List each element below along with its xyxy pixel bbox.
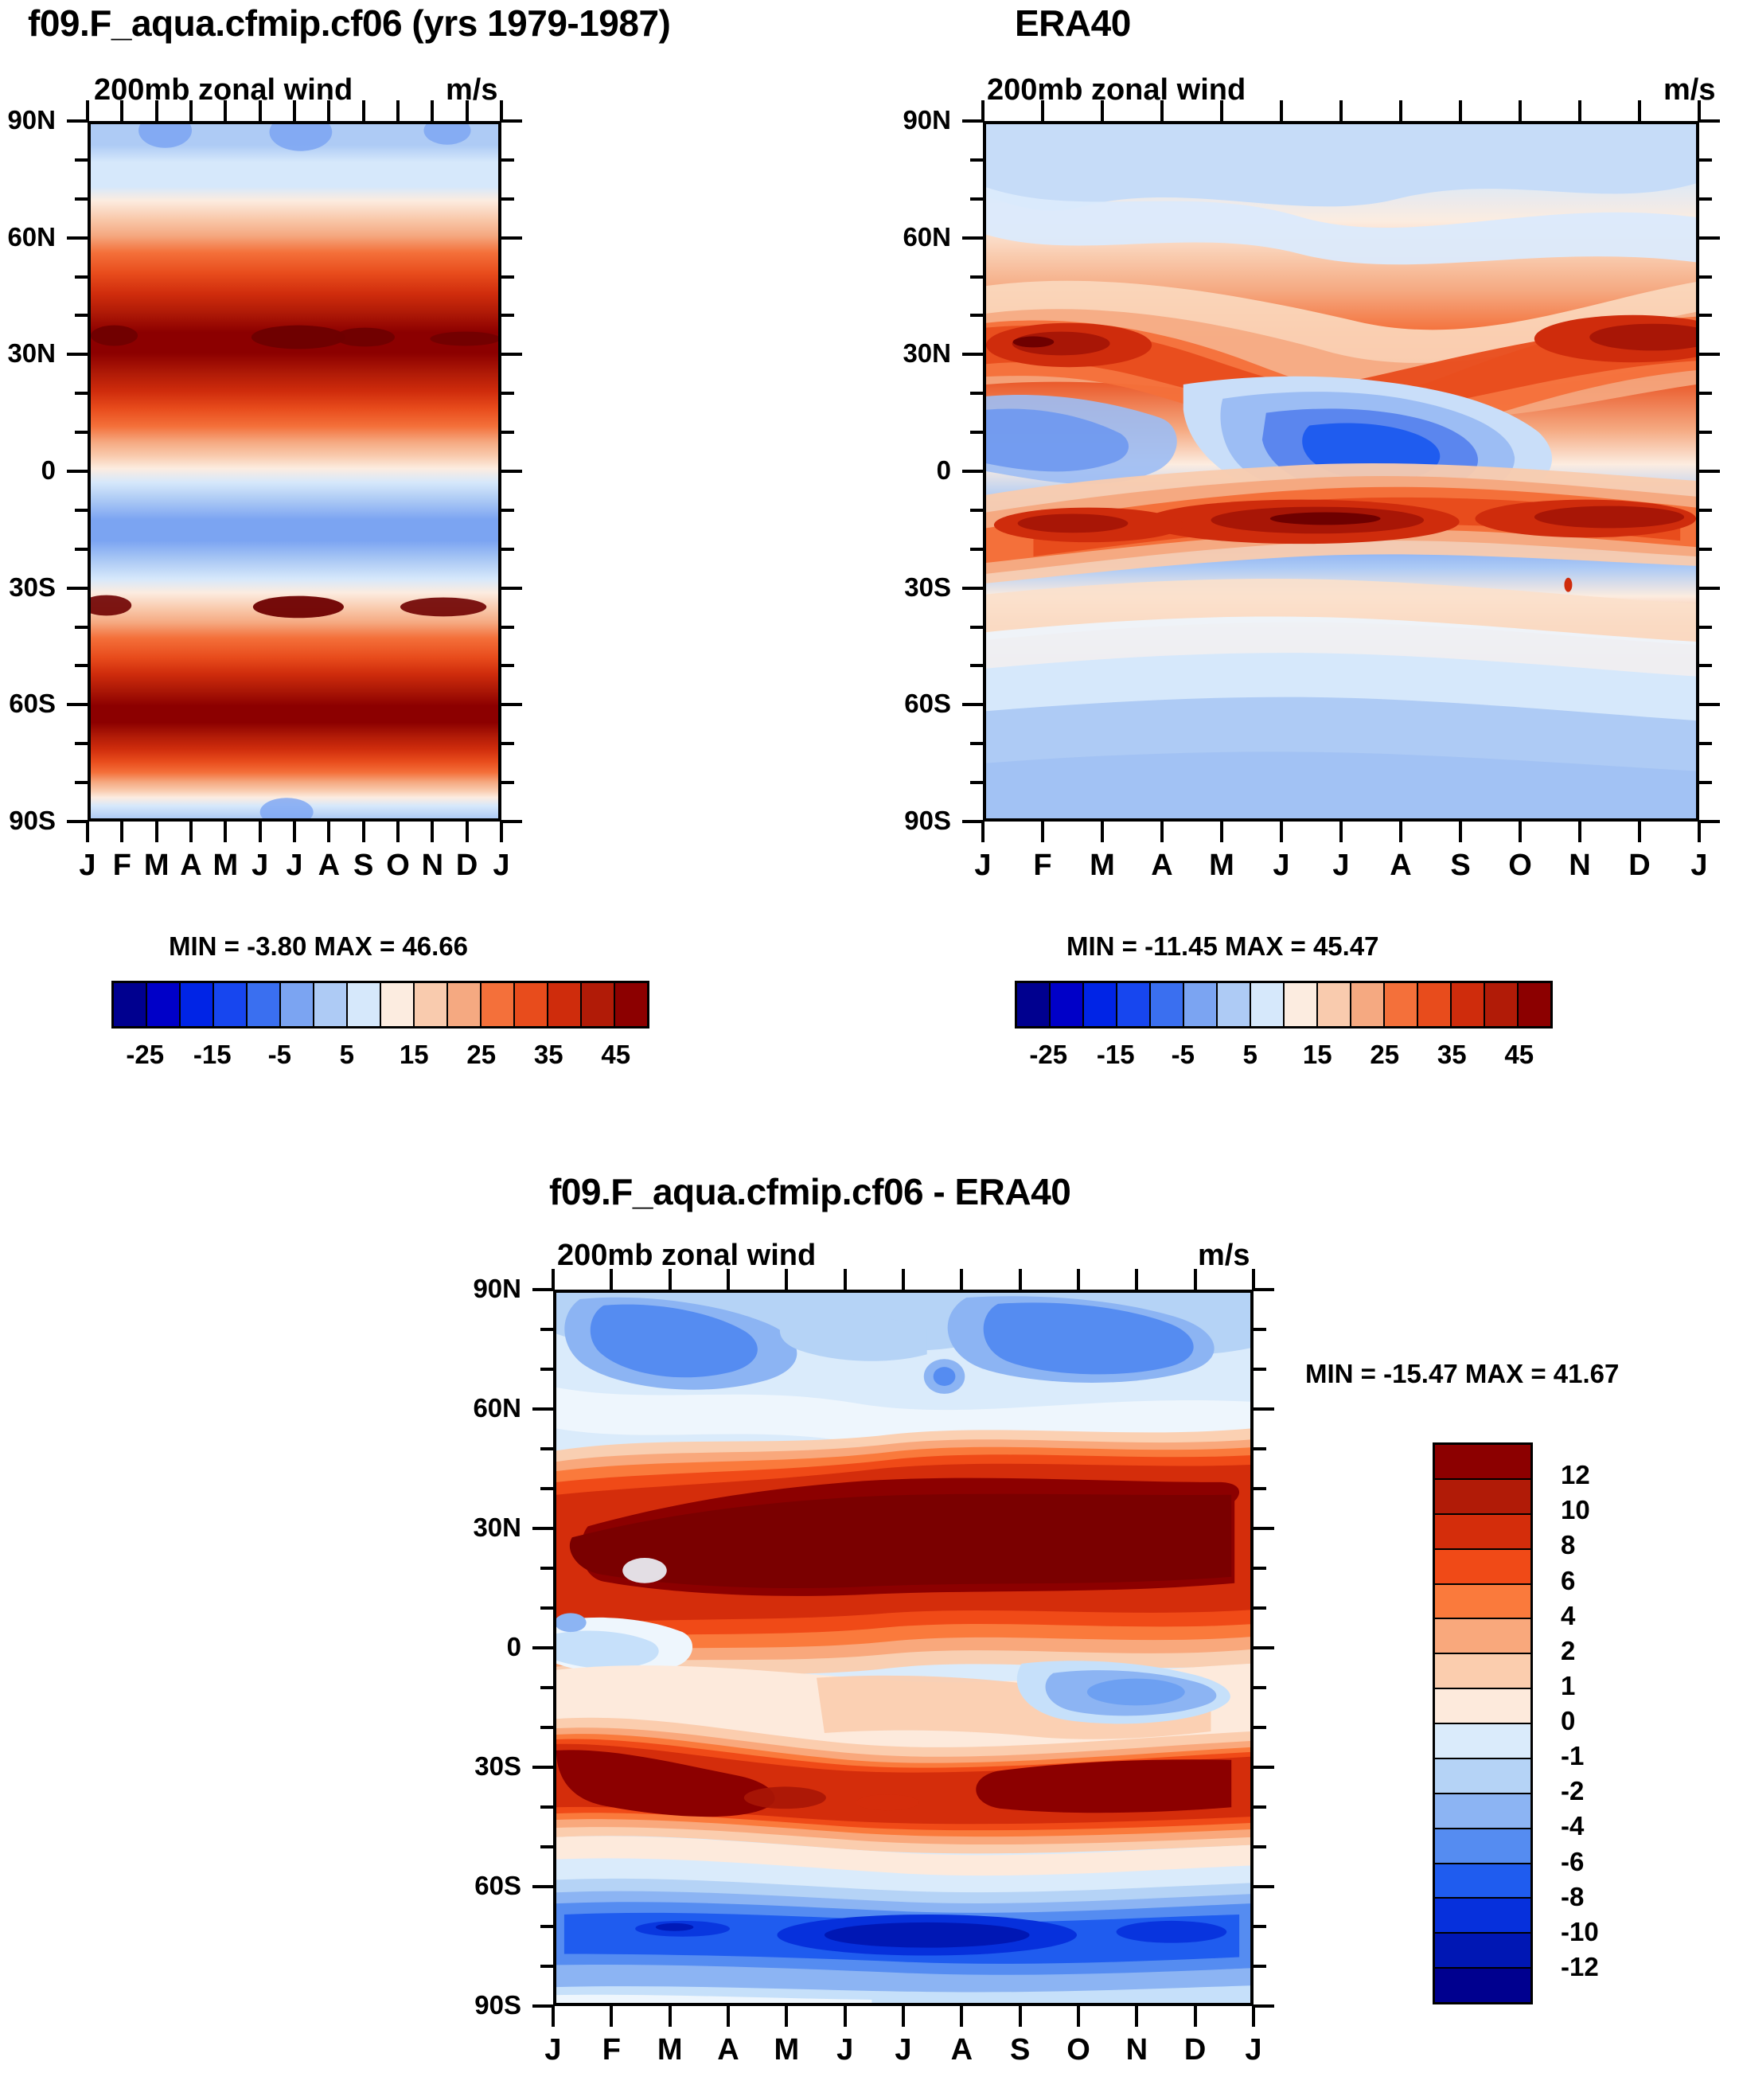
colorbar-swatch (1435, 1934, 1530, 1969)
y-tick-major (1254, 1766, 1274, 1769)
colorbar-tick-label: 12 (1561, 1460, 1590, 1490)
colorbar-swatch (1351, 983, 1385, 1026)
y-tick-minor (75, 392, 88, 395)
colorbar-tick-label: 6 (1561, 1566, 1575, 1596)
colorbar-swatch (1117, 983, 1151, 1026)
y-tick-minor (75, 742, 88, 745)
y-axis-label: 30N (473, 1513, 521, 1543)
colorbar-tick-label: -5 (268, 1040, 291, 1070)
y-axis-label: 0 (41, 455, 56, 486)
y-tick-minor (970, 392, 983, 395)
y-tick-minor (1699, 548, 1712, 551)
y-tick-major (67, 820, 88, 823)
x-tick-major (224, 822, 227, 842)
y-tick-major (1254, 1646, 1274, 1649)
x-tick-major (727, 2006, 730, 2027)
colorbar-tick-label: -10 (1561, 1917, 1599, 1947)
x-tick-top (1459, 100, 1462, 121)
y-tick-minor (75, 548, 88, 551)
colorbar-swatch (1435, 1759, 1530, 1794)
x-axis-label: D (456, 849, 478, 883)
panel-obs-subtitle-right: m/s (1663, 73, 1715, 107)
x-tick-major (1578, 822, 1581, 842)
x-tick-top (1638, 100, 1641, 121)
y-tick-minor (1699, 392, 1712, 395)
y-axis-label: 30S (904, 572, 951, 603)
y-tick-minor (501, 781, 514, 784)
x-tick-top (1698, 100, 1701, 121)
x-tick-major (902, 2006, 905, 2027)
x-tick-major (610, 2006, 613, 2027)
y-tick-minor (970, 275, 983, 279)
x-tick-major (844, 2006, 847, 2027)
y-tick-minor (1699, 275, 1712, 279)
y-tick-major (501, 587, 522, 590)
x-tick-major (1041, 822, 1044, 842)
colorbar-swatch (1218, 983, 1251, 1026)
y-tick-major (501, 236, 522, 240)
x-tick-top (1519, 100, 1522, 121)
colorbar-swatch (1051, 983, 1084, 1026)
colorbar-swatch (1017, 983, 1051, 1026)
y-tick-minor (1699, 197, 1712, 201)
y-axis-label: 60S (474, 1871, 521, 1901)
y-axis-label: 60S (904, 689, 951, 719)
y-tick-major (962, 470, 983, 473)
y-tick-minor (1254, 1328, 1266, 1331)
y-axis-label: 60N (7, 222, 56, 252)
x-axis-label: M (1209, 849, 1234, 883)
colorbar-model[interactable] (111, 981, 649, 1029)
x-tick-major (1019, 2006, 1022, 2027)
x-tick-major (1194, 2006, 1197, 2027)
y-tick-major (501, 703, 522, 706)
y-tick-minor (540, 1606, 553, 1610)
x-tick-major (1252, 2006, 1255, 2027)
y-tick-major (67, 236, 88, 240)
colorbar-tick-label: -5 (1172, 1040, 1195, 1070)
colorbar-swatch (1435, 1619, 1530, 1654)
y-tick-minor (75, 197, 88, 201)
x-axis-label: F (602, 2033, 621, 2067)
colorbar-swatch (1485, 983, 1519, 1026)
x-tick-major (1160, 822, 1164, 842)
colorbar-swatch (1435, 1654, 1530, 1689)
colorbar-tick-label: -25 (1029, 1040, 1067, 1070)
x-tick-major (86, 822, 89, 842)
colorbar-tick-label: -2 (1561, 1776, 1584, 1806)
y-tick-minor (970, 314, 983, 317)
y-tick-minor (540, 1567, 553, 1570)
x-tick-top (1077, 1269, 1080, 1290)
x-tick-top (327, 100, 330, 121)
x-tick-major (120, 822, 123, 842)
colorbar-swatch (515, 983, 548, 1026)
y-tick-minor (1699, 314, 1712, 317)
x-axis-label: N (1569, 849, 1590, 883)
x-axis-label: A (1151, 849, 1172, 883)
colorbar-swatch (281, 983, 314, 1026)
x-tick-major (293, 822, 296, 842)
y-tick-major (1699, 470, 1720, 473)
colorbar-tick-label: 35 (1437, 1040, 1467, 1070)
x-tick-top (610, 1269, 613, 1290)
x-axis-label: A (1390, 849, 1411, 883)
x-axis-label: M (144, 849, 170, 883)
panel-model-minmax: MIN = -3.80 MAX = 46.66 (169, 931, 468, 962)
y-tick-minor (501, 392, 514, 395)
y-tick-minor (1699, 626, 1712, 629)
y-tick-minor (1699, 431, 1712, 434)
x-tick-top (293, 100, 296, 121)
panel-obs-plot[interactable] (983, 121, 1699, 822)
y-tick-minor (1254, 1447, 1266, 1450)
panel-diff-plot[interactable] (553, 1290, 1254, 2006)
panel-model-plot[interactable] (88, 121, 501, 822)
y-tick-minor (1254, 1805, 1266, 1809)
y-tick-major (532, 1646, 553, 1649)
y-tick-minor (501, 742, 514, 745)
x-tick-top (1578, 100, 1581, 121)
x-axis-label: M (774, 2033, 800, 2067)
y-tick-minor (1699, 158, 1712, 162)
colorbar-tick-label: -6 (1561, 1847, 1584, 1877)
x-axis-label: A (180, 849, 201, 883)
x-axis-label: J (1332, 849, 1349, 883)
x-tick-top (1160, 100, 1164, 121)
x-tick-top (785, 1269, 788, 1290)
y-tick-minor (501, 158, 514, 162)
x-tick-top (189, 100, 193, 121)
x-axis-label: S (1450, 849, 1470, 883)
y-tick-minor (1254, 1726, 1266, 1729)
x-tick-major (189, 822, 193, 842)
x-tick-top (1041, 100, 1044, 121)
y-tick-minor (540, 1845, 553, 1848)
y-tick-minor (501, 509, 514, 512)
y-tick-major (1254, 1527, 1274, 1530)
y-tick-minor (75, 509, 88, 512)
x-tick-top (224, 100, 227, 121)
x-tick-major (466, 822, 469, 842)
y-tick-minor (1254, 1368, 1266, 1371)
x-tick-top (259, 100, 262, 121)
x-tick-top (552, 1269, 555, 1290)
x-tick-top (431, 100, 434, 121)
colorbar-swatch (314, 983, 348, 1026)
y-axis-label: 30N (7, 338, 56, 369)
x-axis-label: F (113, 849, 131, 883)
y-tick-major (962, 703, 983, 706)
x-axis-label: O (386, 849, 410, 883)
colorbar-obs[interactable] (1015, 981, 1553, 1029)
y-tick-major (532, 1407, 553, 1411)
colorbar-swatch (147, 983, 181, 1026)
colorbar-swatch (1435, 1585, 1530, 1620)
y-tick-major (962, 820, 983, 823)
x-tick-top (396, 100, 400, 121)
y-tick-major (1699, 119, 1720, 123)
y-tick-minor (970, 781, 983, 784)
colorbar-swatch (114, 983, 147, 1026)
panel-obs-minmax: MIN = -11.45 MAX = 45.47 (1066, 931, 1379, 962)
x-axis-label: J (895, 2033, 911, 2067)
diff-contour-field (556, 1293, 1250, 2003)
colorbar-swatch (448, 983, 482, 1026)
x-axis-label: N (1126, 2033, 1148, 2067)
y-tick-minor (970, 509, 983, 512)
colorbar-swatch (1435, 1724, 1530, 1759)
y-tick-minor (75, 314, 88, 317)
x-axis-label: J (1245, 2033, 1261, 2067)
colorbar-swatch (248, 983, 281, 1026)
colorbar-swatch (615, 983, 647, 1026)
colorbar-swatch (1285, 983, 1318, 1026)
x-tick-top (981, 100, 985, 121)
x-axis-label: O (1066, 2033, 1090, 2067)
y-tick-minor (501, 197, 514, 201)
x-axis-label: N (422, 849, 443, 883)
y-tick-minor (1699, 664, 1712, 667)
y-tick-major (1254, 1288, 1274, 1291)
colorbar-swatch (1435, 1969, 1530, 2002)
y-tick-minor (540, 1726, 553, 1729)
x-tick-top (1220, 100, 1223, 121)
x-tick-major (327, 822, 330, 842)
x-axis-label: J (1273, 849, 1289, 883)
y-tick-minor (540, 1447, 553, 1450)
y-tick-major (501, 470, 522, 473)
x-tick-major (155, 822, 158, 842)
x-axis-label: J (493, 849, 509, 883)
x-tick-major (669, 2006, 672, 2027)
x-tick-major (1339, 822, 1343, 842)
colorbar-swatch (1435, 1794, 1530, 1829)
colorbar-swatch (1251, 983, 1285, 1026)
figure-root: f09.F_aqua.cfmip.cf06 (yrs 1979-1987) 20… (0, 0, 1739, 2100)
y-tick-major (1254, 1885, 1274, 1888)
y-tick-minor (970, 664, 983, 667)
x-axis-label: S (1010, 2033, 1030, 2067)
x-axis-label: M (1090, 849, 1115, 883)
x-tick-major (1135, 2006, 1138, 2027)
x-tick-major (431, 822, 434, 842)
y-tick-major (1699, 236, 1720, 240)
colorbar-swatch (214, 983, 248, 1026)
y-tick-minor (1699, 742, 1712, 745)
x-tick-major (785, 2006, 788, 2027)
y-tick-major (67, 119, 88, 123)
y-tick-major (67, 470, 88, 473)
y-tick-major (501, 353, 522, 356)
colorbar-swatch (415, 983, 448, 1026)
y-tick-minor (970, 742, 983, 745)
y-tick-major (67, 353, 88, 356)
x-axis-label: J (1690, 849, 1707, 883)
x-axis-label: M (657, 2033, 683, 2067)
y-tick-minor (75, 781, 88, 784)
y-axis-label: 90N (473, 1274, 521, 1304)
colorbar-swatch (1452, 983, 1485, 1026)
x-tick-top (844, 1269, 847, 1290)
y-tick-minor (1254, 1965, 1266, 1968)
x-tick-major (960, 2006, 963, 2027)
x-axis-label: O (1508, 849, 1532, 883)
y-tick-minor (1254, 1925, 1266, 1928)
colorbar-swatch (1318, 983, 1351, 1026)
colorbar-diff-labels: 1210864210-1-2-4-6-8-10-12 (1548, 1442, 1675, 2004)
y-axis-label: 90N (7, 105, 56, 135)
x-tick-top (362, 100, 365, 121)
colorbar-swatch (1385, 983, 1418, 1026)
y-tick-major (532, 1885, 553, 1888)
colorbar-swatch (1435, 1445, 1530, 1480)
x-tick-top (466, 100, 469, 121)
model-contour-field (91, 124, 498, 818)
x-tick-top (1135, 1269, 1138, 1290)
y-tick-major (962, 587, 983, 590)
x-tick-major (362, 822, 365, 842)
y-axis-label: 90N (903, 105, 951, 135)
colorbar-tick-label: 25 (1370, 1040, 1399, 1070)
x-tick-top (902, 1269, 905, 1290)
panel-diff-title: f09.F_aqua.cfmip.cf06 - ERA40 (549, 1170, 1070, 1213)
colorbar-swatch (582, 983, 615, 1026)
x-tick-major (1220, 822, 1223, 842)
colorbar-tick-label: 1 (1561, 1671, 1575, 1701)
y-tick-major (532, 2004, 553, 2008)
y-axis-label: 0 (937, 455, 951, 486)
colorbar-tick-label: 45 (601, 1040, 630, 1070)
y-axis-label: 30S (9, 572, 56, 603)
y-tick-minor (540, 1686, 553, 1689)
colorbar-tick-label: 25 (466, 1040, 496, 1070)
y-axis-label: 60N (473, 1393, 521, 1423)
x-tick-top (669, 1269, 672, 1290)
colorbar-tick-label: -4 (1561, 1811, 1584, 1841)
colorbar-swatch (1184, 983, 1218, 1026)
colorbar-tick-label: 0 (1561, 1706, 1575, 1736)
x-tick-major (1698, 822, 1701, 842)
x-axis-label: J (974, 849, 991, 883)
x-axis-label: A (717, 2033, 739, 2067)
y-tick-major (1699, 587, 1720, 590)
y-tick-minor (1254, 1845, 1266, 1848)
y-tick-major (67, 703, 88, 706)
colorbar-swatch (181, 983, 214, 1026)
colorbar-tick-label: 5 (340, 1040, 354, 1070)
x-tick-major (1638, 822, 1641, 842)
y-axis-label: 90S (9, 806, 56, 836)
y-tick-minor (540, 1328, 553, 1331)
panel-obs-title: ERA40 (1015, 2, 1131, 45)
colorbar-tick-label: 15 (400, 1040, 429, 1070)
colorbar-swatch (1418, 983, 1452, 1026)
y-tick-minor (540, 1368, 553, 1371)
colorbar-tick-label: 2 (1561, 1636, 1575, 1666)
colorbar-tick-label: -1 (1561, 1741, 1584, 1771)
x-tick-major (500, 822, 503, 842)
y-tick-minor (1254, 1487, 1266, 1490)
colorbar-swatch (1151, 983, 1184, 1026)
y-tick-minor (501, 548, 514, 551)
y-axis-label: 90S (904, 806, 951, 836)
x-axis-label: S (353, 849, 373, 883)
colorbar-swatch (1435, 1829, 1530, 1864)
y-tick-major (501, 820, 522, 823)
y-tick-minor (1699, 509, 1712, 512)
colorbar-tick-label: -15 (1097, 1040, 1135, 1070)
y-tick-minor (75, 431, 88, 434)
y-tick-minor (501, 275, 514, 279)
x-tick-major (396, 822, 400, 842)
y-tick-minor (970, 197, 983, 201)
y-tick-major (1699, 820, 1720, 823)
x-tick-major (1519, 822, 1522, 842)
x-tick-top (1194, 1269, 1197, 1290)
y-tick-minor (970, 626, 983, 629)
y-tick-minor (501, 431, 514, 434)
y-tick-major (532, 1527, 553, 1530)
y-tick-minor (75, 664, 88, 667)
y-tick-minor (501, 314, 514, 317)
x-tick-major (1101, 822, 1104, 842)
colorbar-tick-label: 8 (1561, 1530, 1575, 1560)
y-tick-minor (1254, 1606, 1266, 1610)
y-tick-minor (1699, 781, 1712, 784)
y-tick-major (532, 1766, 553, 1769)
y-tick-major (962, 119, 983, 123)
x-tick-major (259, 822, 262, 842)
colorbar-swatch (1435, 1515, 1530, 1550)
x-tick-top (1280, 100, 1283, 121)
colorbar-swatch (548, 983, 582, 1026)
x-axis-label: A (951, 2033, 973, 2067)
panel-diff-subtitle-left: 200mb zonal wind (557, 1239, 816, 1273)
y-tick-minor (970, 548, 983, 551)
colorbar-tick-label: -12 (1561, 1952, 1599, 1982)
x-tick-major (1459, 822, 1462, 842)
colorbar-swatch (482, 983, 515, 1026)
x-axis-label: J (251, 849, 268, 883)
y-axis-label: 0 (507, 1632, 521, 1662)
x-tick-top (155, 100, 158, 121)
y-tick-minor (75, 158, 88, 162)
colorbar-swatch (1084, 983, 1117, 1026)
x-tick-major (981, 822, 985, 842)
panel-diff-minmax: MIN = -15.47 MAX = 41.67 (1305, 1359, 1619, 1389)
x-axis-label: J (544, 2033, 561, 2067)
y-tick-major (962, 353, 983, 356)
x-tick-major (1280, 822, 1283, 842)
y-tick-minor (540, 1487, 553, 1490)
colorbar-tick-label: -8 (1561, 1882, 1584, 1912)
x-tick-top (1399, 100, 1402, 121)
y-axis-label: 30N (903, 338, 951, 369)
colorbar-tick-label: 35 (534, 1040, 563, 1070)
x-tick-top (1101, 100, 1104, 121)
colorbar-tick-label: 45 (1504, 1040, 1534, 1070)
y-tick-minor (501, 664, 514, 667)
x-axis-label: A (318, 849, 340, 883)
colorbar-tick-label: 10 (1561, 1495, 1590, 1525)
colorbar-swatch (1435, 1899, 1530, 1934)
colorbar-swatch (381, 983, 415, 1026)
y-tick-minor (970, 158, 983, 162)
y-tick-minor (540, 1805, 553, 1809)
y-axis-label: 90S (474, 1990, 521, 2020)
colorbar-diff[interactable] (1433, 1442, 1533, 2004)
